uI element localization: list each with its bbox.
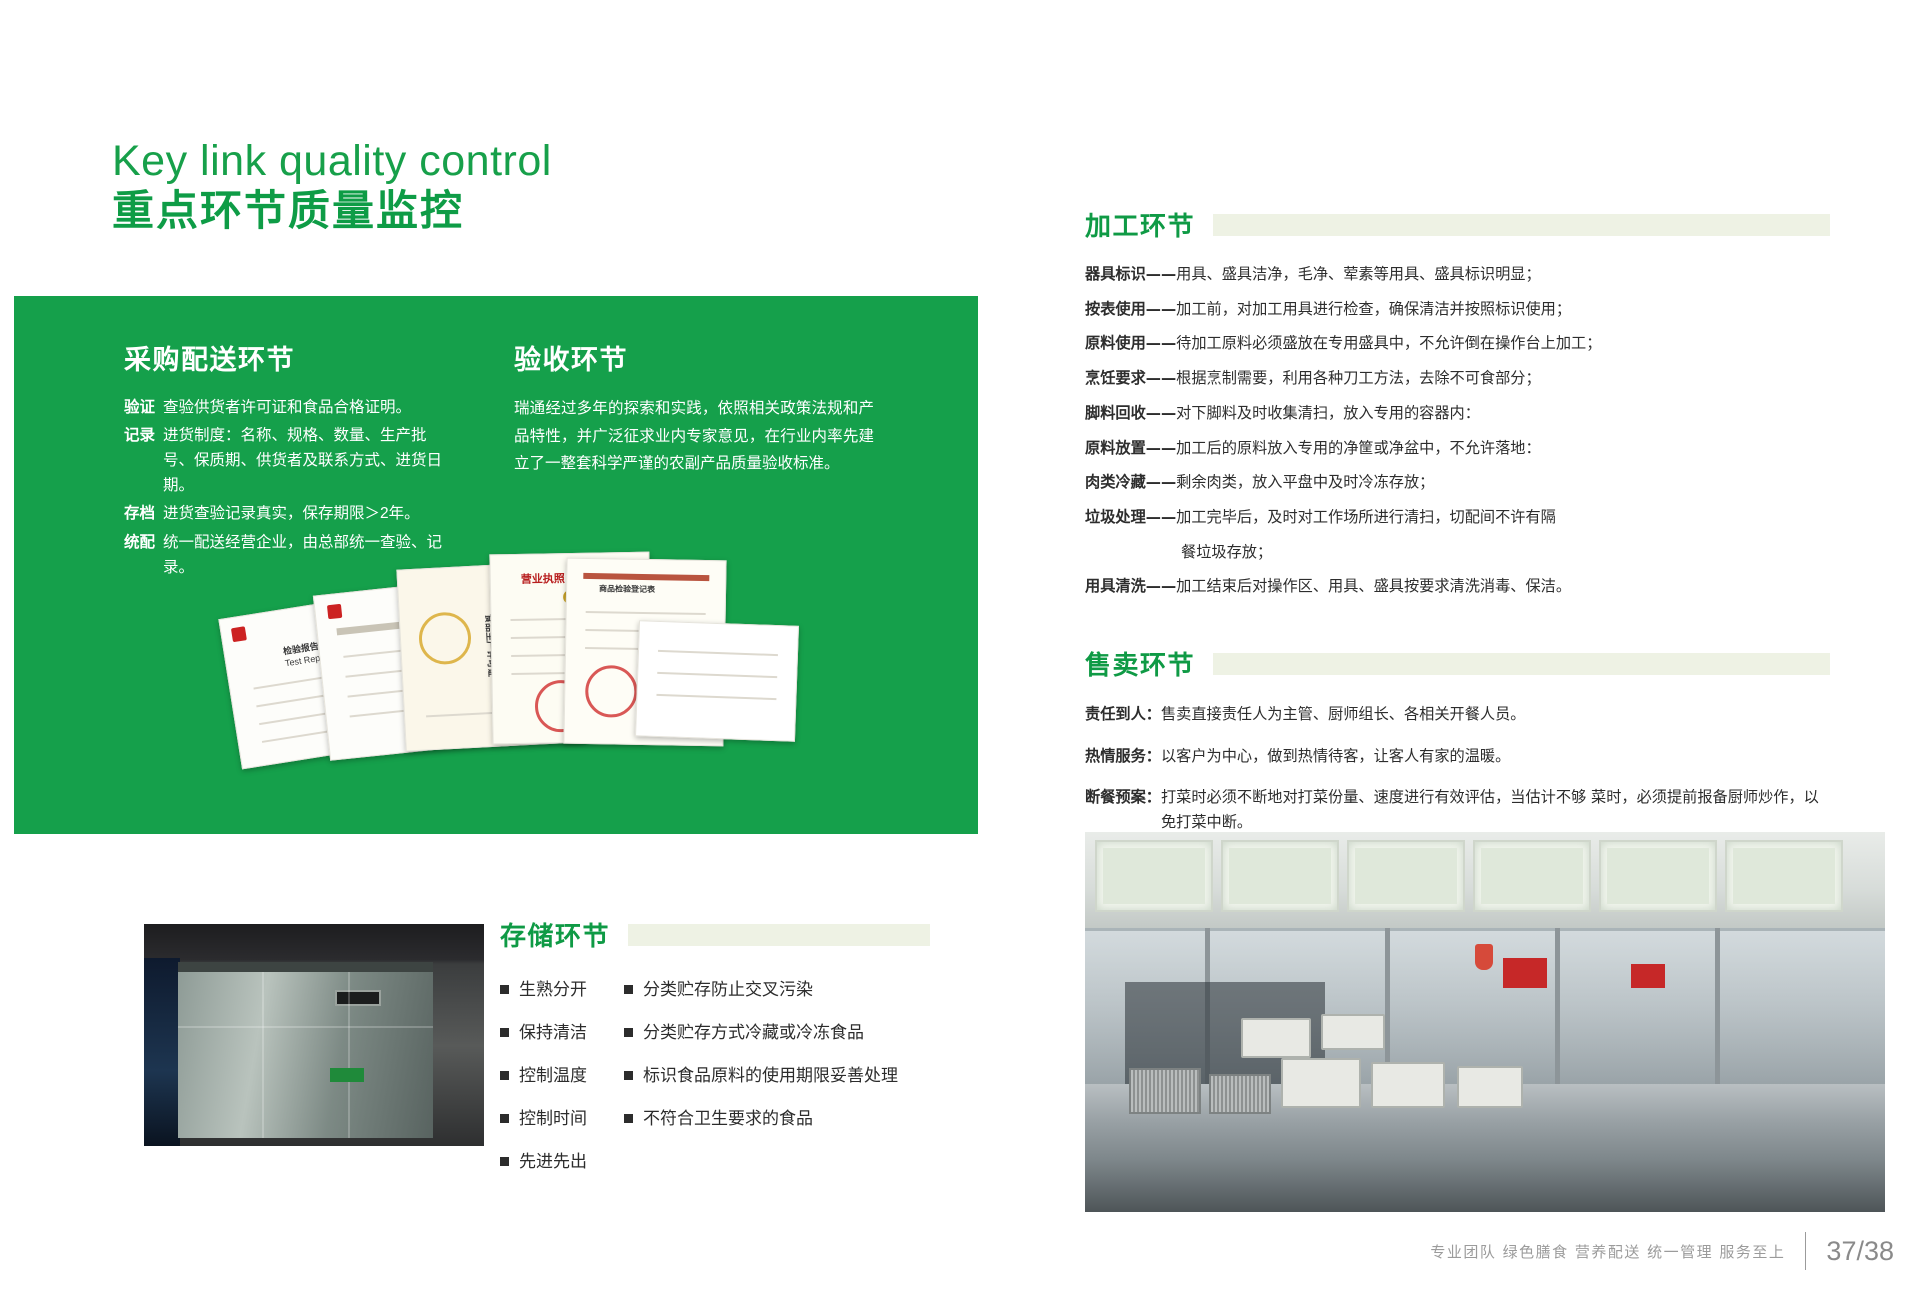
purchase-row: 验证 查验供货者许可证和食品合格证明。	[124, 395, 454, 420]
list-item-label: 生熟分开	[519, 979, 587, 1001]
square-bullet-icon	[624, 1028, 633, 1037]
menu-image	[1607, 848, 1709, 904]
purchase-delivery-column: 采购配送环节 验证 查验供货者许可证和食品合格证明。 记录 进货制度：名称、规格…	[124, 338, 454, 583]
menu-lightbox	[1473, 840, 1591, 912]
list-item-label: 控制温度	[519, 1065, 587, 1087]
glass-post	[1715, 928, 1720, 1088]
list-item: 脚料回收——对下脚料及时收集清扫，放入专用的容器内：	[1085, 402, 1830, 426]
cert-logo-icon	[327, 604, 342, 619]
purchase-row: 记录 进货制度：名称、规格、数量、生产批号、保质期、供货者及联系方式、进货日期。	[124, 423, 454, 498]
purchase-row: 存档 进货查验记录真实，保存期限＞2年。	[124, 501, 454, 526]
document-page: Key link quality control 重点环节质量监控 采购配送环节…	[0, 0, 1920, 1312]
square-bullet-icon	[500, 1157, 509, 1166]
list-item-value: 剩余肉类，放入平盘中及时冷冻存放；	[1176, 471, 1830, 495]
acceptance-column: 验收环节 瑞通经过多年的探索和实践，依照相关政策法规和产品特性，并广泛征求业内专…	[514, 338, 874, 478]
menu-lightbox	[1347, 840, 1465, 912]
page-title-block: Key link quality control 重点环节质量监控	[112, 140, 552, 234]
footer-divider	[1805, 1232, 1806, 1270]
list-item: 保持清洁	[500, 1022, 624, 1044]
storage-bullets-left: 生熟分开 保持清洁 控制温度 控制时间 先进先出	[500, 979, 624, 1194]
list-item: 肉类冷藏——剩余肉类，放入平盘中及时冷冻存放；	[1085, 471, 1830, 495]
tray-stack	[1371, 1062, 1445, 1108]
panel-line	[262, 972, 264, 1138]
menu-image	[1103, 848, 1205, 904]
menu-lightbox	[1725, 840, 1843, 912]
menu-image	[1733, 848, 1835, 904]
certificates-photo: 检验报告 Test Report 食品生产许可证	[229, 551, 789, 791]
green-feature-panel: 采购配送环节 验证 查验供货者许可证和食品合格证明。 记录 进货制度：名称、规格…	[14, 296, 978, 834]
list-item-value: 根据烹制需要，利用各种刀工方法，去除不可食部分；	[1176, 367, 1830, 391]
processing-heading-wrap: 加工环节	[1085, 206, 1830, 243]
square-bullet-icon	[500, 1028, 509, 1037]
sales-heading-wrap: 售卖环节	[1085, 645, 1830, 682]
list-item-value: 对下脚料及时收集清扫，放入专用的容器内：	[1176, 402, 1830, 426]
square-bullet-icon	[624, 1071, 633, 1080]
bowl-stack	[1241, 1018, 1311, 1058]
list-item: 控制温度	[500, 1065, 624, 1087]
page-number: 37/38	[1826, 1236, 1894, 1267]
fridge-unit	[178, 962, 433, 1138]
square-bullet-icon	[624, 985, 633, 994]
list-item-value: 加工前，对加工用具进行检查，确保清洁并按照标识使用；	[1176, 298, 1830, 322]
sales-heading: 售卖环节	[1085, 645, 1195, 682]
cert-rule	[656, 694, 776, 700]
storage-heading-wrap: 存储环节	[500, 916, 930, 953]
list-item: 器具标识——用具、盛具洁净，毛净、荤素等用具、盛具标识明显；	[1085, 263, 1830, 287]
menu-image	[1355, 848, 1457, 904]
list-item-label: 分类贮存方式冷藏或冷冻食品	[643, 1022, 864, 1044]
list-item-label: 控制时间	[519, 1108, 587, 1130]
cert-title-text: 商品检验登记表	[599, 583, 655, 595]
list-item-value: 售卖直接责任人为主管、厨师组长、各相关开餐人员。	[1161, 702, 1830, 727]
purchase-row-text: 进货制度：名称、规格、数量、生产批号、保质期、供货者及联系方式、进货日期。	[163, 423, 454, 498]
panel-line	[348, 972, 350, 1138]
exit-sign-icon	[330, 1068, 364, 1082]
list-item-key: 脚料回收——	[1085, 402, 1176, 426]
purchase-row-label: 存档	[124, 501, 155, 526]
list-item: 不符合卫生要求的食品	[624, 1108, 930, 1130]
list-item: 热情服务：以客户为中心，做到热情待客，让客人有家的温暖。	[1085, 744, 1830, 769]
cert-logo-icon	[231, 626, 247, 642]
list-item-label: 标识食品原料的使用期限妥善处理	[643, 1065, 898, 1087]
list-item-value: 加工完毕后，及时对工作场所进行清扫，切配间不许有隔	[1176, 506, 1830, 530]
cert-title-text: 营业执照	[521, 570, 565, 587]
refrigerator-photo	[144, 924, 484, 1146]
menu-image	[1481, 848, 1583, 904]
list-item: 控制时间	[500, 1108, 624, 1130]
gold-seal-icon	[418, 611, 473, 666]
list-item-key: 责任到人：	[1085, 702, 1161, 727]
list-item-label: 保持清洁	[519, 1022, 587, 1044]
storage-bullets-right: 分类贮存防止交叉污染 分类贮存方式冷藏或冷冻食品 标识食品原料的使用期限妥善处理…	[624, 979, 930, 1194]
page-footer: 专业团队 绿色膳食 营养配送 统一管理 服务至上 37/38	[1430, 1232, 1894, 1270]
purchase-row-label: 统配	[124, 530, 155, 580]
list-item-label: 先进先出	[519, 1151, 587, 1173]
list-item-key: 器具标识——	[1085, 263, 1176, 287]
cert-rule	[658, 650, 778, 656]
processing-list: 器具标识——用具、盛具洁净，毛净、荤素等用具、盛具标识明显； 按表使用——加工前…	[1085, 263, 1830, 599]
list-item-continuation: 餐垃圾存放；	[1085, 541, 1830, 565]
menu-lightbox	[1221, 840, 1339, 912]
cert-rule	[586, 611, 706, 615]
list-item: 原料放置——加工后的原料放入专用的净筐或净盆中，不允许落地：	[1085, 437, 1830, 461]
list-item: 责任到人：售卖直接责任人为主管、厨师组长、各相关开餐人员。	[1085, 702, 1830, 727]
list-item: 分类贮存方式冷藏或冷冻食品	[624, 1022, 930, 1044]
list-item-key: 肉类冷藏——	[1085, 471, 1176, 495]
list-item-label: 不符合卫生要求的食品	[643, 1108, 813, 1130]
list-item-key: 断餐预案：	[1085, 785, 1161, 834]
list-item: 烹饪要求——根据烹制需要，利用各种刀工方法，去除不可食部分；	[1085, 367, 1830, 391]
tray-stack	[1457, 1066, 1523, 1108]
list-item-key: 用具清洗——	[1085, 575, 1176, 599]
list-item-key: 原料放置——	[1085, 437, 1176, 461]
list-item: 按表使用——加工前，对加工用具进行检查，确保清洁并按照标识使用；	[1085, 298, 1830, 322]
purchase-row-text: 查验供货者许可证和食品合格证明。	[163, 395, 454, 420]
tray-stack	[1281, 1058, 1361, 1108]
list-item-value: 加工结束后对操作区、用具、盛具按要求清洗消毒、保洁。	[1176, 575, 1830, 599]
list-item: 生熟分开	[500, 979, 624, 1001]
page-title-chinese: 重点环节质量监控	[112, 187, 552, 234]
cert-rule	[657, 672, 777, 678]
canteen-serving-line-photo	[1085, 832, 1885, 1212]
heat-lamp-icon	[1475, 944, 1493, 970]
list-item-value: 加工后的原料放入专用的净筐或净盆中，不允许落地：	[1176, 437, 1830, 461]
list-item-key: 热情服务：	[1085, 744, 1161, 769]
acceptance-heading: 验收环节	[514, 338, 874, 377]
fridge-control-panel	[335, 990, 381, 1006]
certificate-back-sheet	[635, 620, 799, 742]
list-item-indent-text: 餐垃圾存放；	[1085, 541, 1830, 565]
red-seal-icon	[585, 665, 638, 718]
cert-header-band	[583, 573, 709, 581]
menu-image	[1229, 848, 1331, 904]
list-item: 分类贮存防止交叉污染	[624, 979, 930, 1001]
footer-tagline: 专业团队 绿色膳食 营养配送 统一管理 服务至上	[1430, 1241, 1785, 1262]
square-bullet-icon	[500, 1114, 509, 1123]
list-item: 先进先出	[500, 1151, 624, 1173]
list-item-key: 烹饪要求——	[1085, 367, 1176, 391]
storage-section: 存储环节 生熟分开 保持清洁 控制温度 控制时间 先进先出 分类贮存防止交叉污染…	[500, 916, 930, 1194]
menu-lightbox	[1095, 840, 1213, 912]
heading-bar	[1213, 214, 1830, 236]
list-item-value: 用具、盛具洁净，毛净、荤素等用具、盛具标识明显；	[1176, 263, 1830, 287]
price-sign	[1503, 958, 1547, 988]
heading-bar	[628, 924, 930, 946]
square-bullet-icon	[624, 1114, 633, 1123]
list-item-value: 打菜时必须不断地对打菜份量、速度进行有效评估，当估计不够 菜时，必须提前报备厨师…	[1161, 785, 1830, 834]
acceptance-paragraph: 瑞通经过多年的探索和实践，依照相关政策法规和产品特性，并广泛征求业内专家意见，在…	[514, 395, 874, 478]
list-item: 原料使用——待加工原料必须盛放在专用盛具中，不允许倒在操作台上加工；	[1085, 332, 1830, 356]
wire-basket	[1209, 1074, 1271, 1114]
glass-post	[1555, 928, 1560, 1088]
photo-sidewall	[144, 958, 180, 1146]
storage-heading: 存储环节	[500, 916, 610, 953]
square-bullet-icon	[500, 1071, 509, 1080]
purchase-delivery-heading: 采购配送环节	[124, 338, 454, 377]
list-item: 垃圾处理——加工完毕后，及时对工作场所进行清扫，切配间不许有隔	[1085, 506, 1830, 530]
list-item-label: 分类贮存防止交叉污染	[643, 979, 813, 1001]
heading-bar	[1213, 653, 1830, 675]
list-item: 标识食品原料的使用期限妥善处理	[624, 1065, 930, 1087]
bowl-stack	[1321, 1014, 1385, 1050]
wire-basket	[1129, 1068, 1201, 1114]
square-bullet-icon	[500, 985, 509, 994]
list-item-key: 垃圾处理——	[1085, 506, 1176, 530]
list-item: 断餐预案：打菜时必须不断地对打菜份量、速度进行有效评估，当估计不够 菜时，必须提…	[1085, 785, 1830, 834]
panel-line	[178, 1026, 433, 1028]
purchase-row-label: 验证	[124, 395, 155, 420]
purchase-row-label: 记录	[124, 423, 155, 498]
page-title-english: Key link quality control	[112, 140, 552, 183]
list-item-key: 按表使用——	[1085, 298, 1176, 322]
processing-heading: 加工环节	[1085, 206, 1195, 243]
list-item: 用具清洗——加工结束后对操作区、用具、盛具按要求清洗消毒、保洁。	[1085, 575, 1830, 599]
storage-bullets: 生熟分开 保持清洁 控制温度 控制时间 先进先出 分类贮存防止交叉污染 分类贮存…	[500, 979, 930, 1194]
purchase-row-text: 进货查验记录真实，保存期限＞2年。	[163, 501, 454, 526]
list-item-value: 待加工原料必须盛放在专用盛具中，不允许倒在操作台上加工；	[1176, 332, 1830, 356]
menu-lightbox	[1599, 840, 1717, 912]
list-item-key: 原料使用——	[1085, 332, 1176, 356]
price-sign	[1631, 964, 1665, 988]
list-item-value: 以客户为中心，做到热情待客，让客人有家的温暖。	[1161, 744, 1830, 769]
